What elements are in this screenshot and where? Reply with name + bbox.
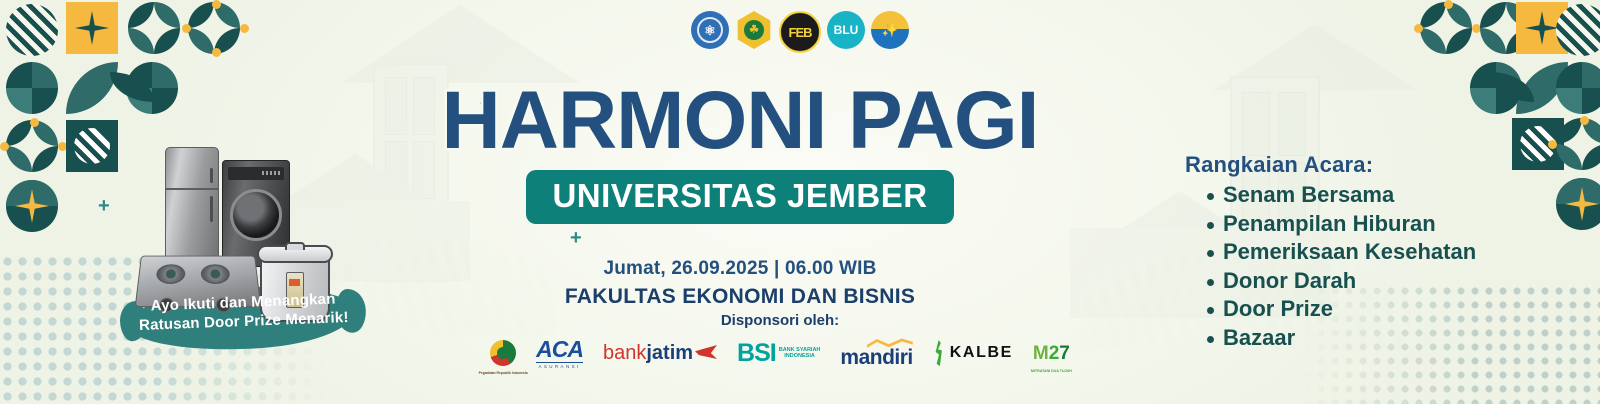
- agenda-list: Senam Bersama Penampilan Hiburan Pemerik…: [1185, 181, 1476, 353]
- kalbe-figure-icon: [933, 340, 946, 366]
- agenda-item: Bazaar: [1207, 324, 1476, 353]
- aca-caption: ASURANSI: [536, 362, 583, 369]
- m27-text-a: M: [1033, 344, 1049, 363]
- sponsor-logo-bankjatim: bankjatim: [603, 334, 717, 372]
- agenda-title: Rangkaian Acara:: [1185, 152, 1476, 178]
- agenda-item: Door Prize: [1207, 295, 1476, 324]
- bankjatim-text-b: jatim: [646, 342, 693, 364]
- subtitle-badge: UNIVERSITAS JEMBER: [526, 170, 953, 224]
- kalbe-text: KALBE: [950, 344, 1013, 362]
- agenda-item: Donor Darah: [1207, 267, 1476, 296]
- blu-logo: BLU: [827, 11, 865, 49]
- bankjatim-swoosh-icon: [695, 345, 717, 359]
- kemdikbud-logo: ⚛: [691, 11, 729, 49]
- agenda-item: Pemeriksaan Kesehatan: [1207, 238, 1476, 267]
- pelayanan-logo: ✨: [871, 11, 909, 49]
- blu-logo-text: BLU: [834, 24, 859, 36]
- event-faculty: FAKULTAS EKONOMI DAN BISNIS: [380, 285, 1100, 309]
- aca-text: ACA: [536, 338, 583, 361]
- bankjatim-text-a: bank: [603, 342, 646, 364]
- agenda-item: Senam Bersama: [1207, 181, 1476, 210]
- m27-text-b: 2: [1049, 344, 1060, 363]
- agenda-item: Penampilan Hiburan: [1207, 210, 1476, 239]
- m27-caption: MITRATANI DUA TUJUH: [1031, 369, 1072, 373]
- universitas-jember-logo: ☘: [735, 11, 773, 49]
- sponsor-logo-kalbe: KALBE: [933, 334, 1013, 372]
- feb-logo: FEB: [779, 11, 821, 53]
- sponsor-logo-pegadaian: Pegadaian Republik Indonesia: [490, 334, 516, 372]
- pegadaian-caption: Pegadaian Republik Indonesia: [479, 371, 528, 375]
- sponsor-logo-aca: ACA ASURANSI: [536, 334, 583, 372]
- agenda-block: Rangkaian Acara: Senam Bersama Penampila…: [1185, 152, 1476, 353]
- door-prize-block: Ayo Ikuti dan Menangkan Ratusan Door Pri…: [130, 135, 360, 335]
- sponsor-logo-bsi: BSI BANK SYARIAH INDONESIA: [737, 334, 820, 372]
- headline-block: HARMONI PAGI UNIVERSITAS JEMBER Jumat, 2…: [380, 82, 1100, 309]
- sponsor-block: Disponsori oleh: Pegadaian Republik Indo…: [470, 312, 1090, 373]
- event-datetime: Jumat, 26.09.2025 | 06.00 WIB: [380, 258, 1100, 280]
- sponsor-logo-mandiri: mandiri: [840, 334, 912, 372]
- bsi-text: BSI: [737, 341, 776, 366]
- m27-text-c: 7: [1059, 344, 1070, 363]
- sponsor-row: Pegadaian Republik Indonesia ACA ASURANS…: [470, 333, 1090, 373]
- pelayanan-swoosh-icon: ✨: [882, 24, 898, 37]
- refrigerator-image: [165, 147, 219, 267]
- pegadaian-mark-icon: [490, 340, 516, 366]
- mandiri-text: mandiri: [840, 349, 912, 368]
- institution-logos: ⚛ ☘ FEB BLU ✨: [0, 11, 1600, 53]
- page-title: HARMONI PAGI: [380, 82, 1100, 160]
- event-banner: + + + ⚛ ☘ FEB BLU ✨: [0, 0, 1600, 404]
- sponsor-label: Disponsori oleh:: [470, 312, 1090, 329]
- bsi-caption-b: INDONESIA: [779, 353, 821, 359]
- sponsor-logo-m27: M27 MITRATANI DUA TUJUH: [1033, 334, 1070, 372]
